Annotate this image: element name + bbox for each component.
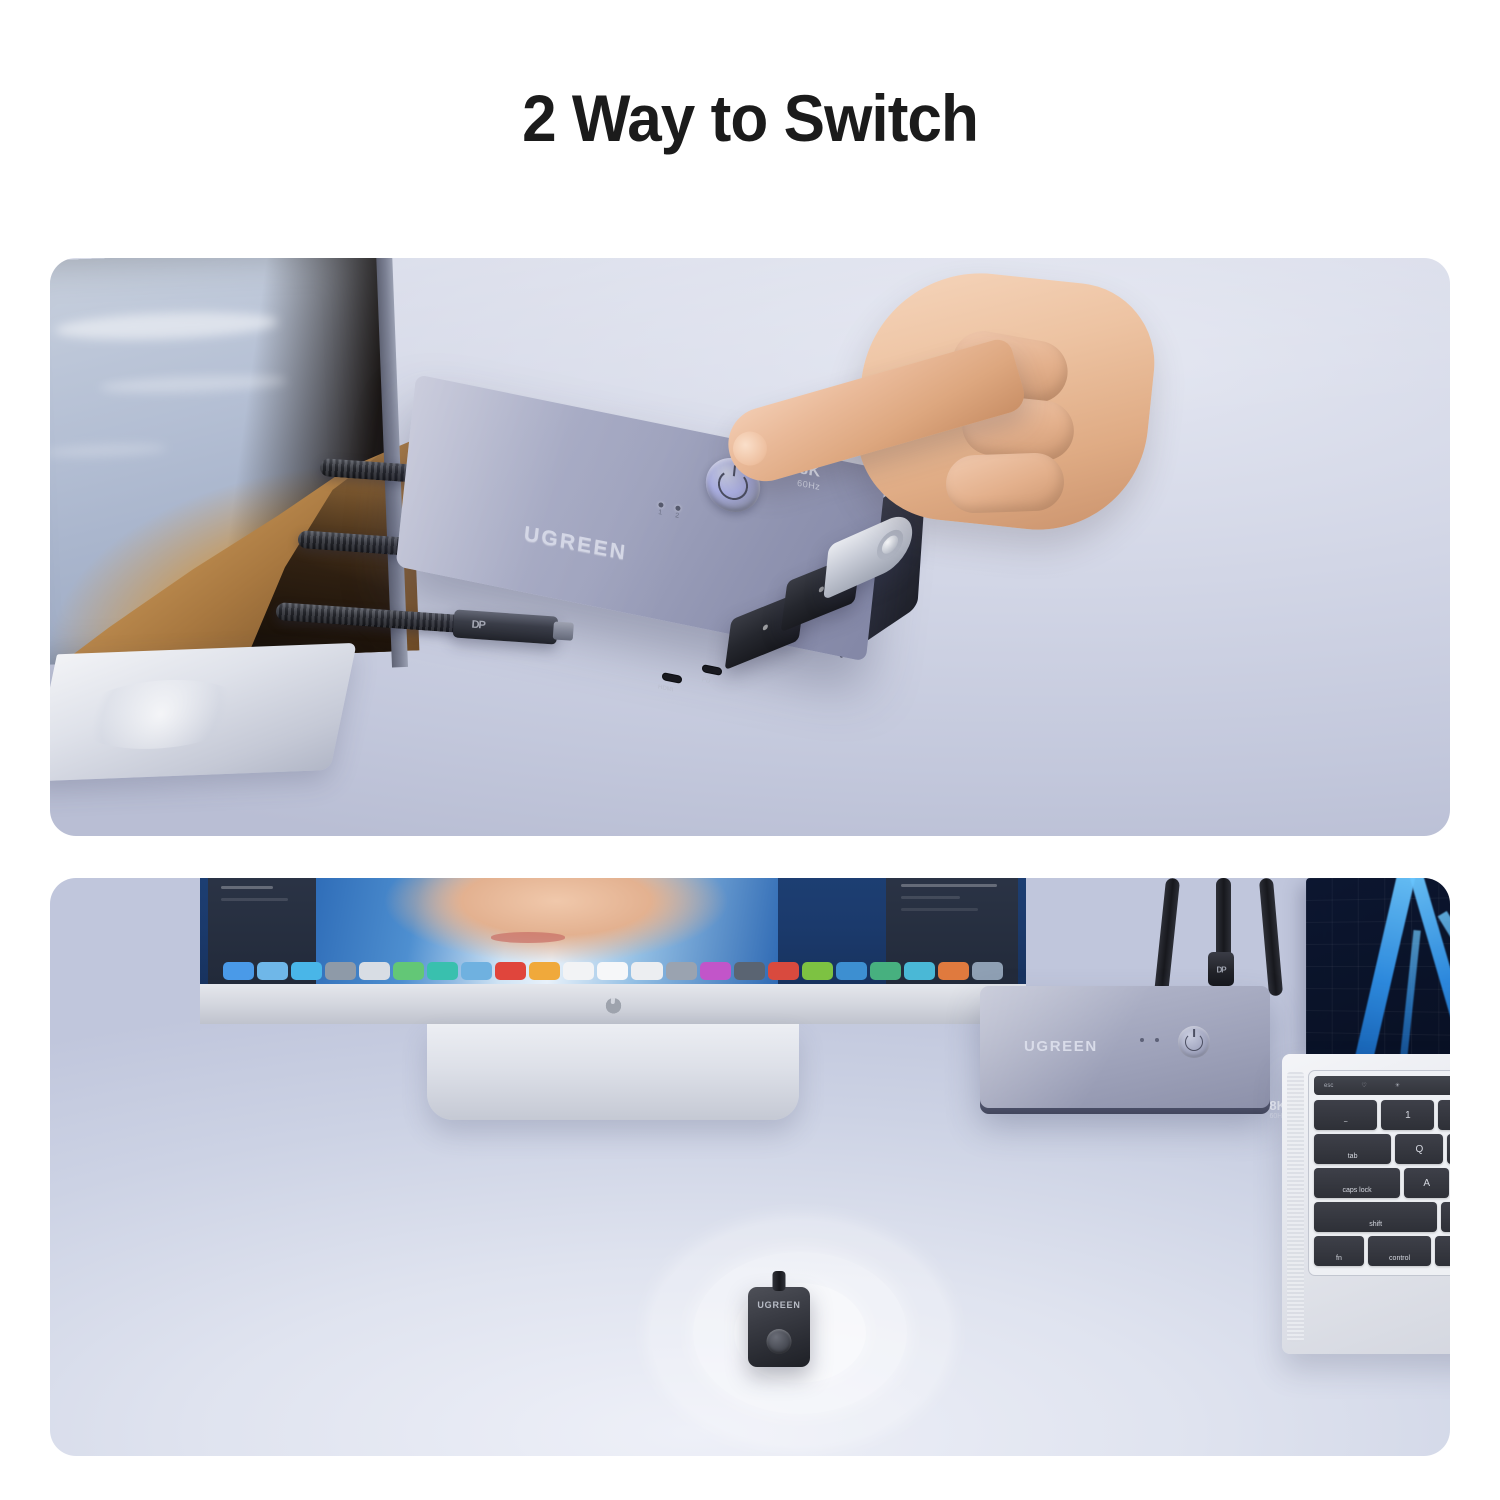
key-1[interactable]: 1 (1381, 1100, 1434, 1130)
keyboard-row-zxcv: shift Z X (1314, 1202, 1450, 1232)
touch-bar[interactable]: esc ♡ ☀ (1314, 1076, 1450, 1095)
macbook-screen (1306, 878, 1450, 1060)
usb-c-port-1 (662, 672, 683, 684)
dock-icon-6[interactable] (427, 962, 458, 980)
led-indicator-group-2 (1140, 1038, 1159, 1042)
page-title: 2 Way to Switch (45, 0, 1455, 190)
monitor (50, 258, 410, 781)
key-fn[interactable]: fn (1314, 1236, 1364, 1266)
dock-icon-17[interactable] (802, 962, 833, 980)
hand (740, 258, 1160, 618)
kvm-switch-device-2: DP UGREEN 8K 60Hz (980, 986, 1300, 1136)
key-tilde[interactable]: ~ (1314, 1100, 1377, 1130)
key-option[interactable]: option (1435, 1236, 1450, 1266)
dock-icon-4[interactable] (359, 962, 390, 980)
imac (200, 878, 1026, 1122)
monitor-stand (50, 643, 357, 782)
dock-icon-10[interactable] (563, 962, 594, 980)
dock-icon-0[interactable] (223, 962, 254, 980)
wired-remote[interactable]: UGREEN (748, 1287, 810, 1367)
dock-icon-3[interactable] (325, 962, 356, 980)
remote-switch-button[interactable] (767, 1329, 792, 1354)
dock-icon-14[interactable] (700, 962, 731, 980)
dock-icon-7[interactable] (461, 962, 492, 980)
key-tab[interactable]: tab (1314, 1134, 1391, 1164)
imac-stand (427, 1024, 799, 1120)
brightness-icon[interactable]: ☀ (1395, 1082, 1400, 1089)
dock-icon-19[interactable] (870, 962, 901, 980)
dock-icon-9[interactable] (529, 962, 560, 980)
key-2[interactable]: 2 (1438, 1100, 1450, 1130)
dock-icon-22[interactable] (972, 962, 1003, 980)
macbook-keyboard[interactable]: esc ♡ ☀ ~ 1 2 3 tab Q W E caps lock (1308, 1070, 1450, 1276)
led-indicator-1: 1 (657, 502, 663, 517)
dock-icon-1[interactable] (257, 962, 288, 980)
dock-icon-8[interactable] (495, 962, 526, 980)
speaker-grille (1287, 1072, 1304, 1342)
dock-icon-15[interactable] (734, 962, 765, 980)
key-q[interactable]: Q (1395, 1134, 1443, 1164)
keyboard-row-bottom: fn control option cmd (1314, 1236, 1450, 1266)
dock-icon-5[interactable] (393, 962, 424, 980)
ugreen-logo-2: UGREEN (1024, 1038, 1098, 1055)
macbook-base: esc ♡ ☀ ~ 1 2 3 tab Q W E caps lock (1282, 1054, 1450, 1354)
macbook: esc ♡ ☀ ~ 1 2 3 tab Q W E caps lock (1282, 878, 1450, 1438)
key-control[interactable]: control (1368, 1236, 1431, 1266)
keyboard-row-numbers: ~ 1 2 3 (1314, 1100, 1450, 1130)
dock-icon-18[interactable] (836, 962, 867, 980)
led-indicator-2-1 (1140, 1038, 1144, 1042)
macos-dock[interactable] (217, 960, 1010, 982)
heart-icon[interactable]: ♡ (1361, 1082, 1366, 1089)
apple-logo-icon (604, 993, 623, 1015)
dock-icon-16[interactable] (768, 962, 799, 980)
imac-chin (200, 984, 1026, 1024)
dock-icon-13[interactable] (666, 962, 697, 980)
power-icon-2 (1185, 1033, 1203, 1051)
key-a[interactable]: A (1404, 1168, 1449, 1198)
dock-icon-21[interactable] (938, 962, 969, 980)
touchbar-esc[interactable]: esc (1324, 1083, 1333, 1089)
key-shift[interactable]: shift (1314, 1202, 1437, 1232)
dock-icon-2[interactable] (291, 962, 322, 980)
dp-connector-top: DP (1208, 952, 1234, 986)
dock-icon-20[interactable] (904, 962, 935, 980)
key-caps-lock[interactable]: caps lock (1314, 1168, 1400, 1198)
ugreen-logo-remote: UGREEN (757, 1300, 800, 1310)
port-label-pd: PD (702, 677, 711, 685)
switch-button-2[interactable] (1178, 1026, 1210, 1058)
keyboard-row-asdf: caps lock A S D (1314, 1168, 1450, 1198)
port-label-hdmi: HDMI (658, 685, 674, 694)
key-z[interactable]: Z (1441, 1202, 1450, 1232)
dock-icon-11[interactable] (597, 962, 628, 980)
panel-button-switch: DP DP DP DP UGREEN 8K 60Hz (50, 258, 1450, 836)
key-w[interactable]: W (1447, 1134, 1450, 1164)
dock-icon-12[interactable] (631, 962, 662, 980)
led-indicator-2-2 (1155, 1038, 1159, 1042)
imac-screen (200, 878, 1026, 984)
remote-cable-stub (773, 1271, 786, 1291)
keyboard-row-qwerty: tab Q W E (1314, 1134, 1450, 1164)
